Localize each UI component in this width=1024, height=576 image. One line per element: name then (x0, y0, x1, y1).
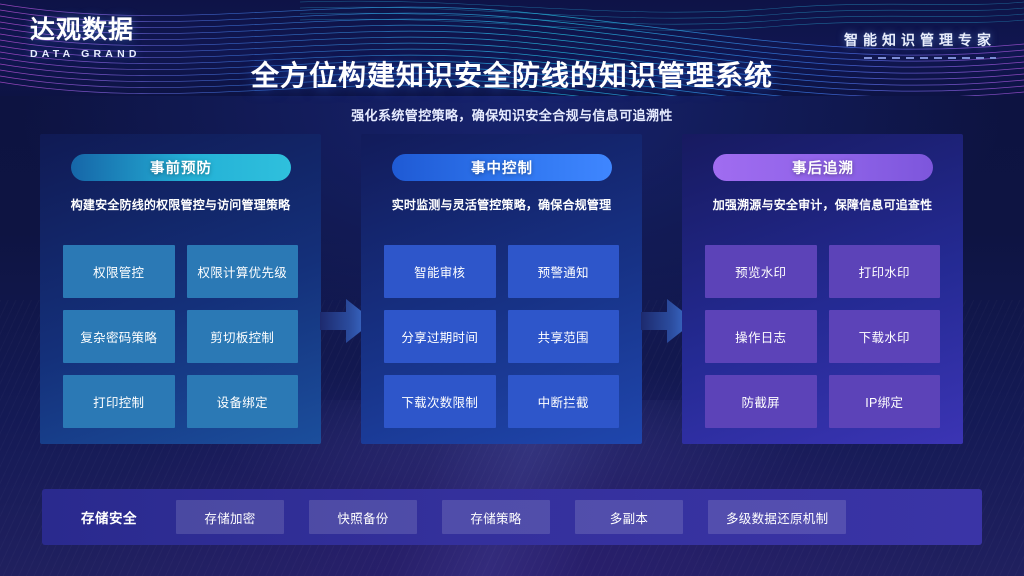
stage-desc-traceability: 加强溯源与安全审计，保障信息可追查性 (690, 196, 955, 213)
feature-cell[interactable]: 中断拦截 (508, 375, 620, 428)
feature-cell[interactable]: 预览水印 (705, 245, 817, 298)
feature-cell[interactable]: 设备绑定 (187, 375, 299, 428)
feature-cell[interactable]: 复杂密码策略 (63, 310, 175, 363)
stage-pill-traceability[interactable]: 事后追溯 (713, 154, 933, 181)
storage-chip-list: 存储加密 快照备份 存储策略 多副本 多级数据还原机制 (176, 500, 846, 534)
feature-cell[interactable]: 权限计算优先级 (187, 245, 299, 298)
storage-chip[interactable]: 存储加密 (176, 500, 284, 534)
feature-grid-traceability: 预览水印 打印水印 操作日志 下载水印 防截屏 IP绑定 (705, 245, 940, 428)
feature-cell[interactable]: 权限管控 (63, 245, 175, 298)
feature-cell[interactable]: 下载次数限制 (384, 375, 496, 428)
feature-grid-prevention: 权限管控 权限计算优先级 复杂密码策略 剪切板控制 打印控制 设备绑定 (63, 245, 298, 428)
stage-pill-prevention[interactable]: 事前预防 (71, 154, 291, 181)
page-subtitle: 强化系统管控策略，确保知识安全合规与信息可追溯性 (0, 105, 1024, 124)
stage-pill-control[interactable]: 事中控制 (392, 154, 612, 181)
feature-cell[interactable]: 预警通知 (508, 245, 620, 298)
storage-security-label: 存储安全 (42, 507, 176, 527)
stage-panel-control: 事中控制 实时监测与灵活管控策略，确保合规管理 智能审核 预警通知 分享过期时间… (361, 134, 642, 444)
stage-desc-prevention: 构建安全防线的权限管控与访问管理策略 (48, 196, 313, 213)
feature-grid-control: 智能审核 预警通知 分享过期时间 共享范围 下载次数限制 中断拦截 (384, 245, 619, 428)
feature-cell[interactable]: 剪切板控制 (187, 310, 299, 363)
storage-chip[interactable]: 快照备份 (309, 500, 417, 534)
stage-panel-prevention: 事前预防 构建安全防线的权限管控与访问管理策略 权限管控 权限计算优先级 复杂密… (40, 134, 321, 444)
feature-cell[interactable]: 打印控制 (63, 375, 175, 428)
feature-cell[interactable]: 打印水印 (829, 245, 941, 298)
brand-logo-cn: 达观数据 (30, 18, 141, 43)
storage-chip[interactable]: 存储策略 (442, 500, 550, 534)
slide-canvas: 达观数据 DATA GRAND 智能知识管理专家 全方位构建知识安全防线的知识管… (0, 0, 1024, 576)
feature-cell[interactable]: 智能审核 (384, 245, 496, 298)
storage-security-bar: 存储安全 存储加密 快照备份 存储策略 多副本 多级数据还原机制 (42, 489, 982, 545)
feature-cell[interactable]: 下载水印 (829, 310, 941, 363)
storage-chip[interactable]: 多级数据还原机制 (708, 500, 846, 534)
feature-cell[interactable]: 防截屏 (705, 375, 817, 428)
page-title: 全方位构建知识安全防线的知识管理系统 (0, 54, 1024, 94)
feature-cell[interactable]: IP绑定 (829, 375, 941, 428)
stage-panel-traceability: 事后追溯 加强溯源与安全审计，保障信息可追查性 预览水印 打印水印 操作日志 下… (682, 134, 963, 444)
feature-cell[interactable]: 操作日志 (705, 310, 817, 363)
feature-cell[interactable]: 分享过期时间 (384, 310, 496, 363)
feature-cell[interactable]: 共享范围 (508, 310, 620, 363)
stage-desc-control: 实时监测与灵活管控策略，确保合规管理 (369, 196, 634, 213)
header-tagline-text: 智能知识管理专家 (844, 30, 996, 50)
storage-chip[interactable]: 多副本 (575, 500, 683, 534)
